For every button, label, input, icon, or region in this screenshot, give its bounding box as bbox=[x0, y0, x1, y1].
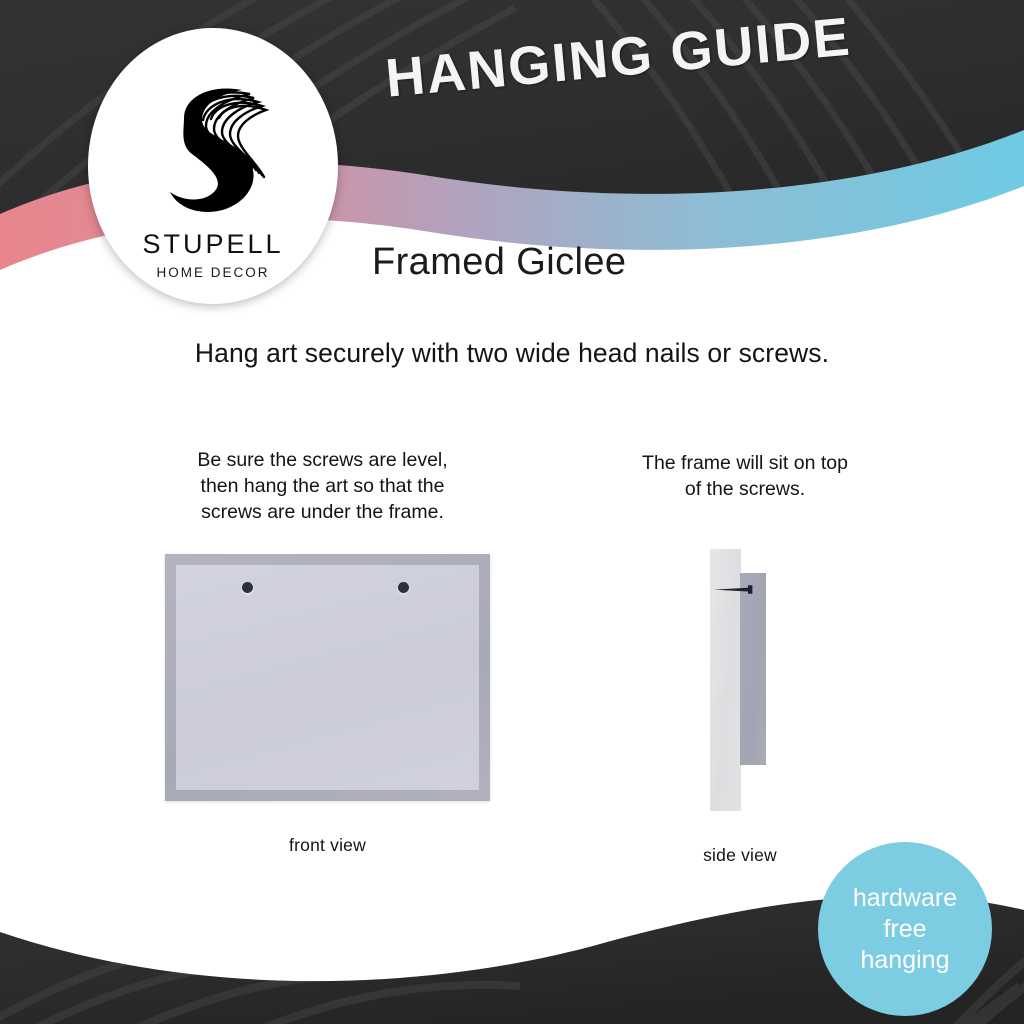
badge-line-1: hardware bbox=[853, 883, 957, 914]
side-view-diagram bbox=[705, 546, 775, 814]
hardware-free-hanging-badge: hardware free hanging bbox=[818, 842, 992, 1016]
frame-side-profile bbox=[740, 573, 766, 765]
front-view-diagram bbox=[165, 554, 490, 801]
hanging-guide-page: STUPELL HOME DECOR HANGING GUIDE Framed … bbox=[0, 0, 1024, 1024]
screw-dot-right bbox=[398, 582, 409, 593]
side-view-label: side view bbox=[660, 845, 820, 866]
badge-line-3: hanging bbox=[861, 945, 950, 976]
side-caption-line-1: The frame will sit on top bbox=[600, 450, 890, 476]
side-view-caption: The frame will sit on top of the screws. bbox=[600, 450, 890, 502]
side-caption-line-2: of the screws. bbox=[600, 476, 890, 502]
picture-frame-artwork-area bbox=[176, 565, 479, 790]
product-name: Framed Giclee bbox=[372, 241, 626, 284]
logo-tagline: HOME DECOR bbox=[156, 265, 269, 280]
stupell-s-swoosh-icon bbox=[148, 80, 278, 215]
front-caption-line-1: Be sure the screws are level, bbox=[150, 447, 495, 473]
logo-brand-name: STUPELL bbox=[142, 229, 283, 260]
main-instruction-text: Hang art securely with two wide head nai… bbox=[0, 338, 1024, 369]
front-view-label: front view bbox=[165, 835, 490, 856]
page-title: HANGING GUIDE bbox=[383, 6, 854, 110]
picture-frame-border bbox=[165, 554, 490, 801]
badge-line-2: free bbox=[883, 914, 926, 945]
screw-dot-left bbox=[242, 582, 253, 593]
front-caption-line-3: screws are under the frame. bbox=[150, 499, 495, 525]
brand-logo-badge: STUPELL HOME DECOR bbox=[88, 28, 338, 304]
nail-icon bbox=[714, 585, 762, 594]
front-view-caption: Be sure the screws are level, then hang … bbox=[150, 447, 495, 525]
front-caption-line-2: then hang the art so that the bbox=[150, 473, 495, 499]
